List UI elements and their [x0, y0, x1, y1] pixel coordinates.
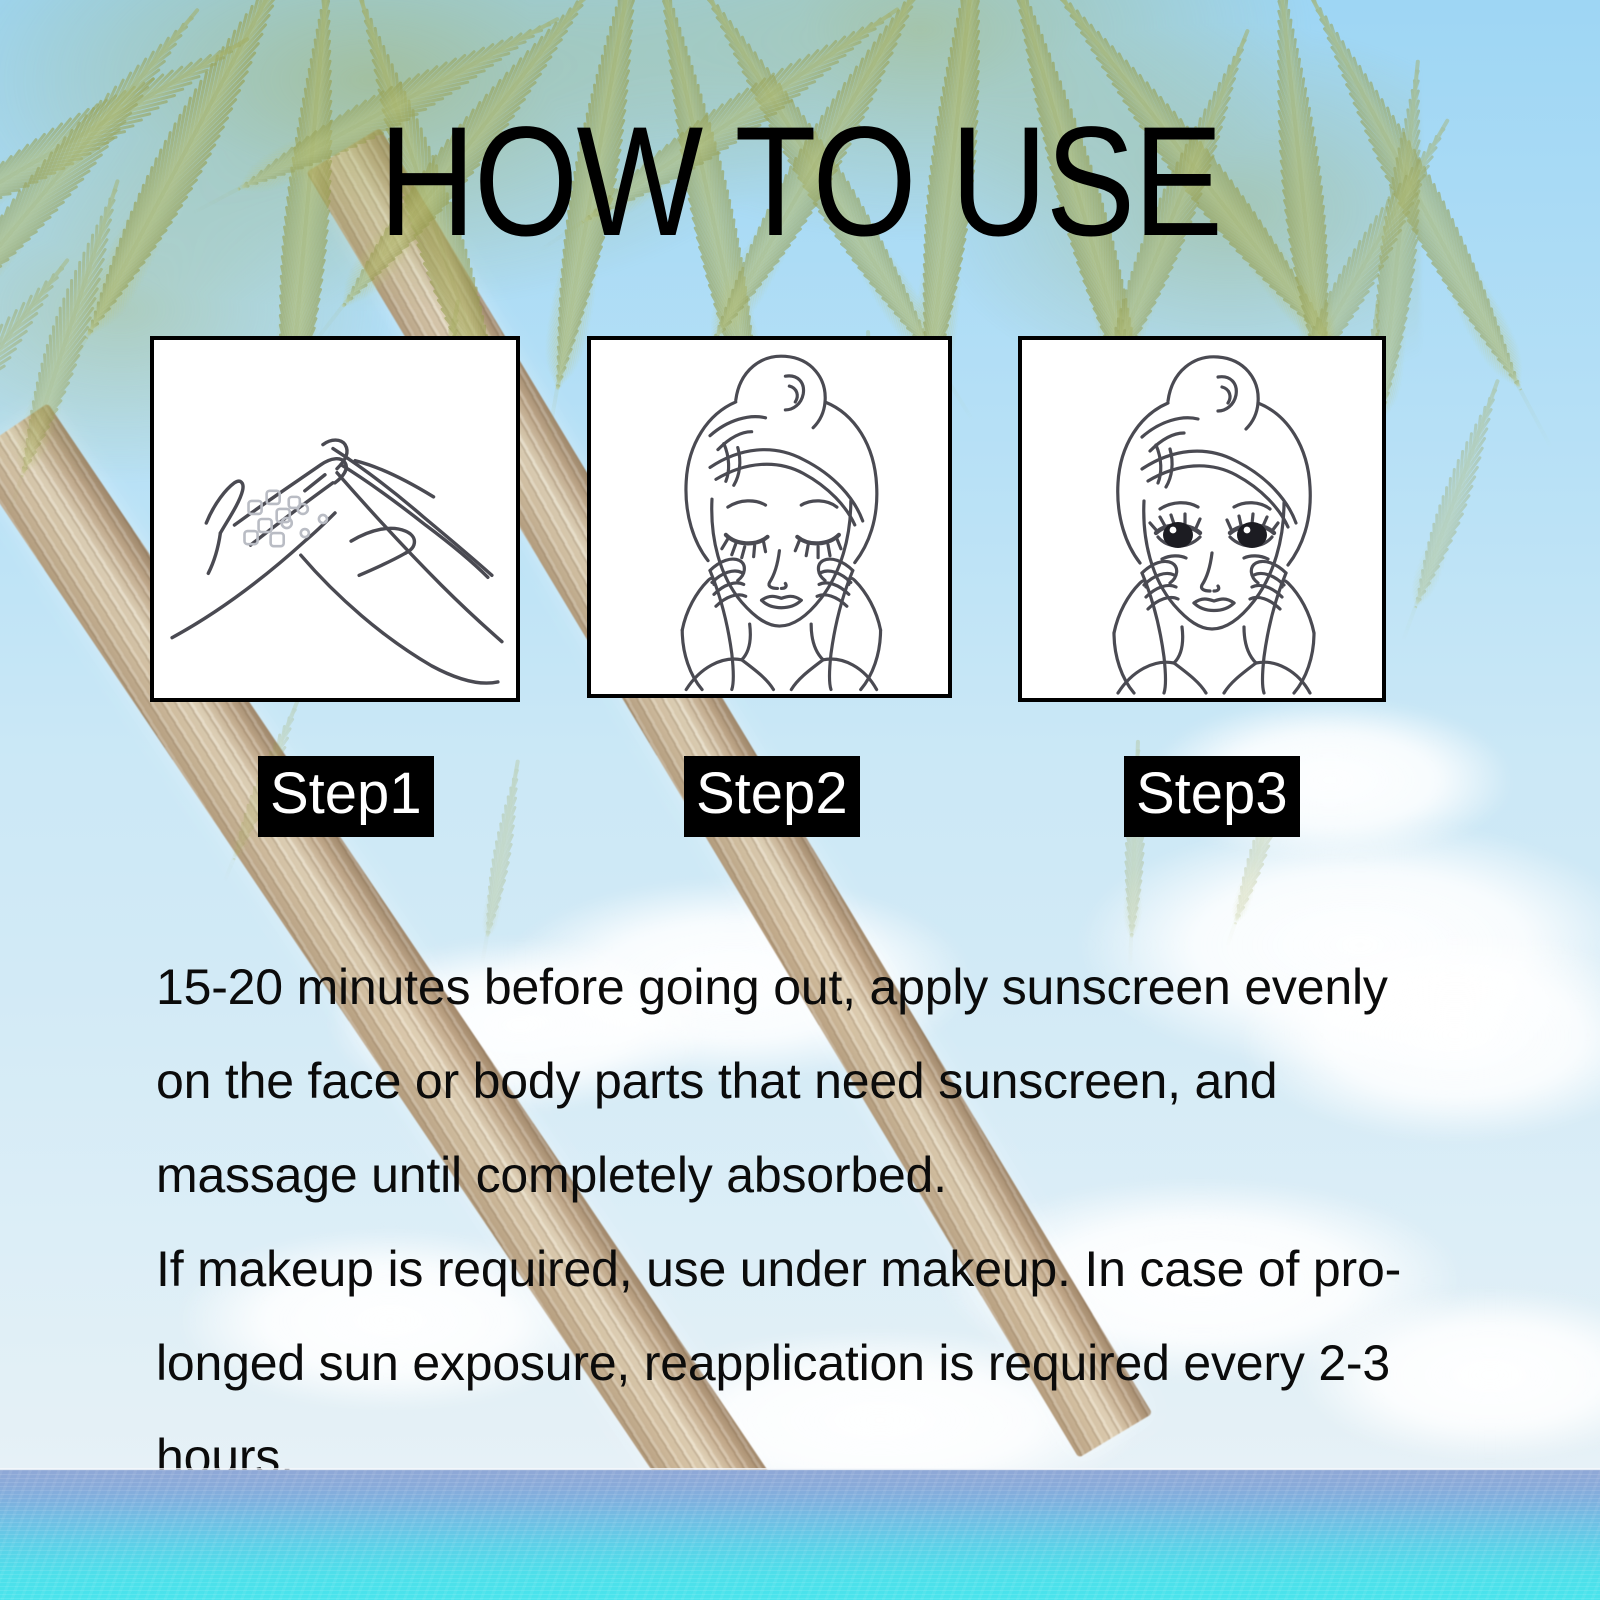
step-image-2 [587, 336, 952, 698]
woman-face-eyes-open-hands-on-cheeks-icon [1022, 340, 1382, 698]
step-label-3: Step3 [1124, 756, 1300, 837]
page-title: HOW TO USE [112, 104, 1488, 260]
step-label-1: Step1 [258, 756, 434, 837]
instructions-block: 15-20 minutes before going out, apply su… [156, 940, 1406, 1504]
steps-gallery [150, 336, 1390, 706]
two-hands-applying-cream-icon [154, 340, 516, 698]
step-label-2: Step2 [684, 756, 860, 837]
instructions-paragraph-2: If makeup is required, use under makeup.… [156, 1222, 1406, 1504]
pupil [1163, 522, 1267, 548]
ocean [0, 1470, 1600, 1600]
step-image-1 [150, 336, 520, 702]
instructions-paragraph-1: 15-20 minutes before going out, apply su… [156, 940, 1406, 1222]
step-image-3 [1018, 336, 1386, 702]
woman-face-eyes-closed-hands-on-cheeks-icon [591, 340, 948, 694]
